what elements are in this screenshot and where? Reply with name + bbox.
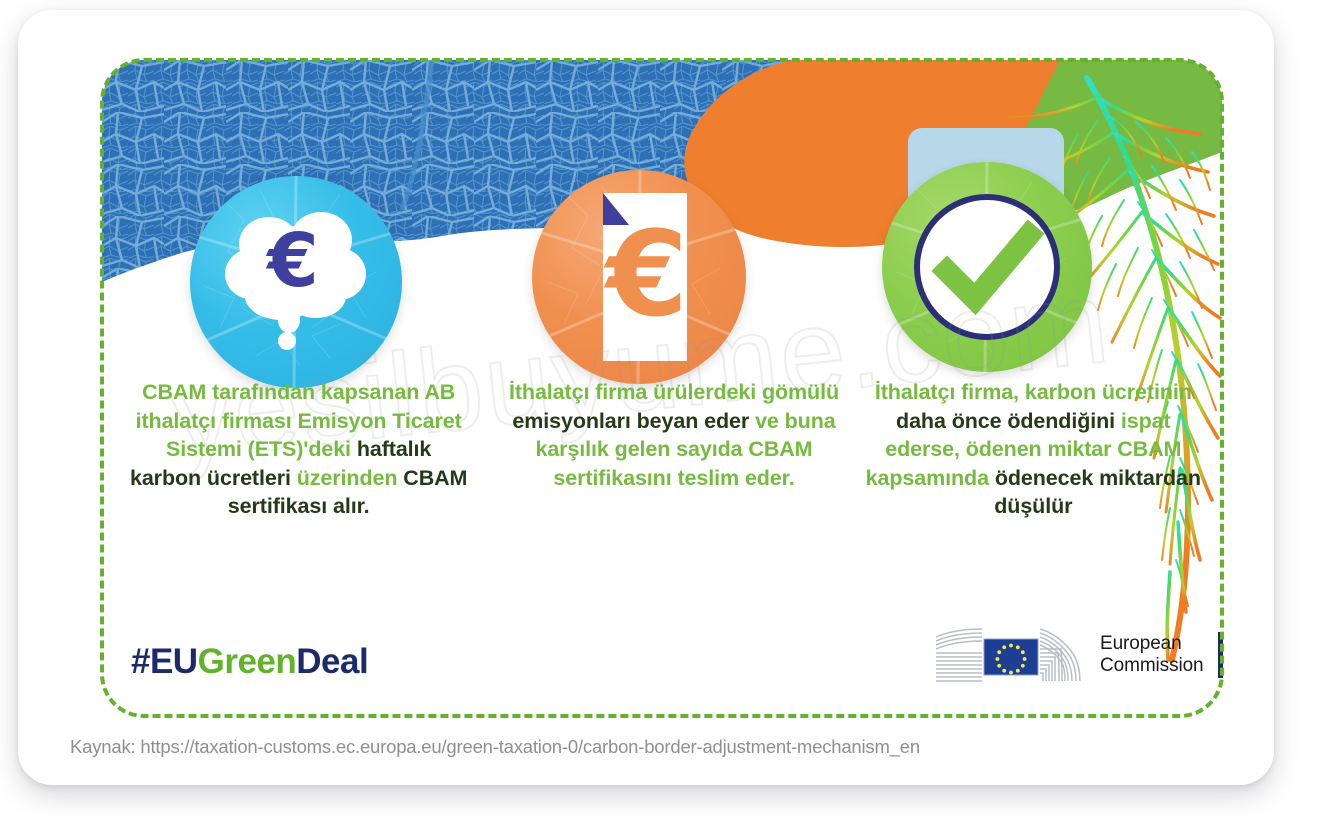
svg-text:€: €: [603, 205, 688, 343]
step-1-seg-3: üzerinden: [297, 466, 404, 490]
step-2-text: İthalatçı firma ürülerdeki gömülü emisyo…: [503, 378, 844, 492]
ec-line-1: European: [1100, 633, 1204, 655]
step-column-3: İthalatçı firma, karbon ücretinin daha ö…: [853, 378, 1222, 521]
step-2-seg-1: İthalatçı firma ürülerdeki gömülü: [509, 380, 839, 404]
infographic-page: €: [0, 0, 1320, 817]
wordmark-part-deal: Deal: [296, 642, 368, 681]
wordmark-part-eu: #EU: [131, 642, 198, 681]
svg-text:€: €: [265, 218, 319, 304]
step-column-2: İthalatçı firma ürülerdeki gömülü emisyo…: [495, 378, 852, 521]
euro-thought-bubble-icon: €: [190, 176, 402, 388]
ec-line-2: Commission: [1100, 655, 1204, 677]
eu-emblem-icon: [932, 625, 1092, 685]
step-3-seg-1: İthalatçı firma, karbon ücretinin: [875, 380, 1192, 404]
euro-bubble-glyph: €: [190, 176, 402, 388]
wordmark-part-green: Green: [198, 642, 297, 681]
green-checkmark-icon: [882, 162, 1092, 372]
step-column-1: CBAM tarafından kapsanan AB ithalatçı fi…: [102, 378, 495, 521]
step-2-seg-2: emisyonları beyan eder: [512, 409, 755, 433]
step-3-text: İthalatçı firma, karbon ücretinin daha ö…: [863, 378, 1204, 521]
steps-columns: CBAM tarafından kapsanan AB ithalatçı fi…: [102, 378, 1222, 521]
source-caption: Kaynak: https://taxation-customs.ec.euro…: [70, 736, 920, 758]
step-3-seg-4: ödenecek miktardan düşülür: [994, 466, 1201, 519]
document-euro-glyph: €: [532, 170, 746, 384]
european-commission-wordmark: European Commission: [1100, 633, 1204, 677]
ec-vertical-bar: [1218, 632, 1223, 678]
checkmark-glyph: [882, 162, 1092, 372]
step-1-text: CBAM tarafından kapsanan AB ithalatçı fi…: [128, 378, 469, 521]
step-3-seg-2: daha önce ödendiğini: [896, 409, 1121, 433]
euro-certificate-document-icon: €: [532, 170, 746, 384]
eu-green-deal-wordmark: #EUGreenDeal: [131, 642, 368, 682]
european-commission-logo: European Commission: [932, 622, 1214, 688]
